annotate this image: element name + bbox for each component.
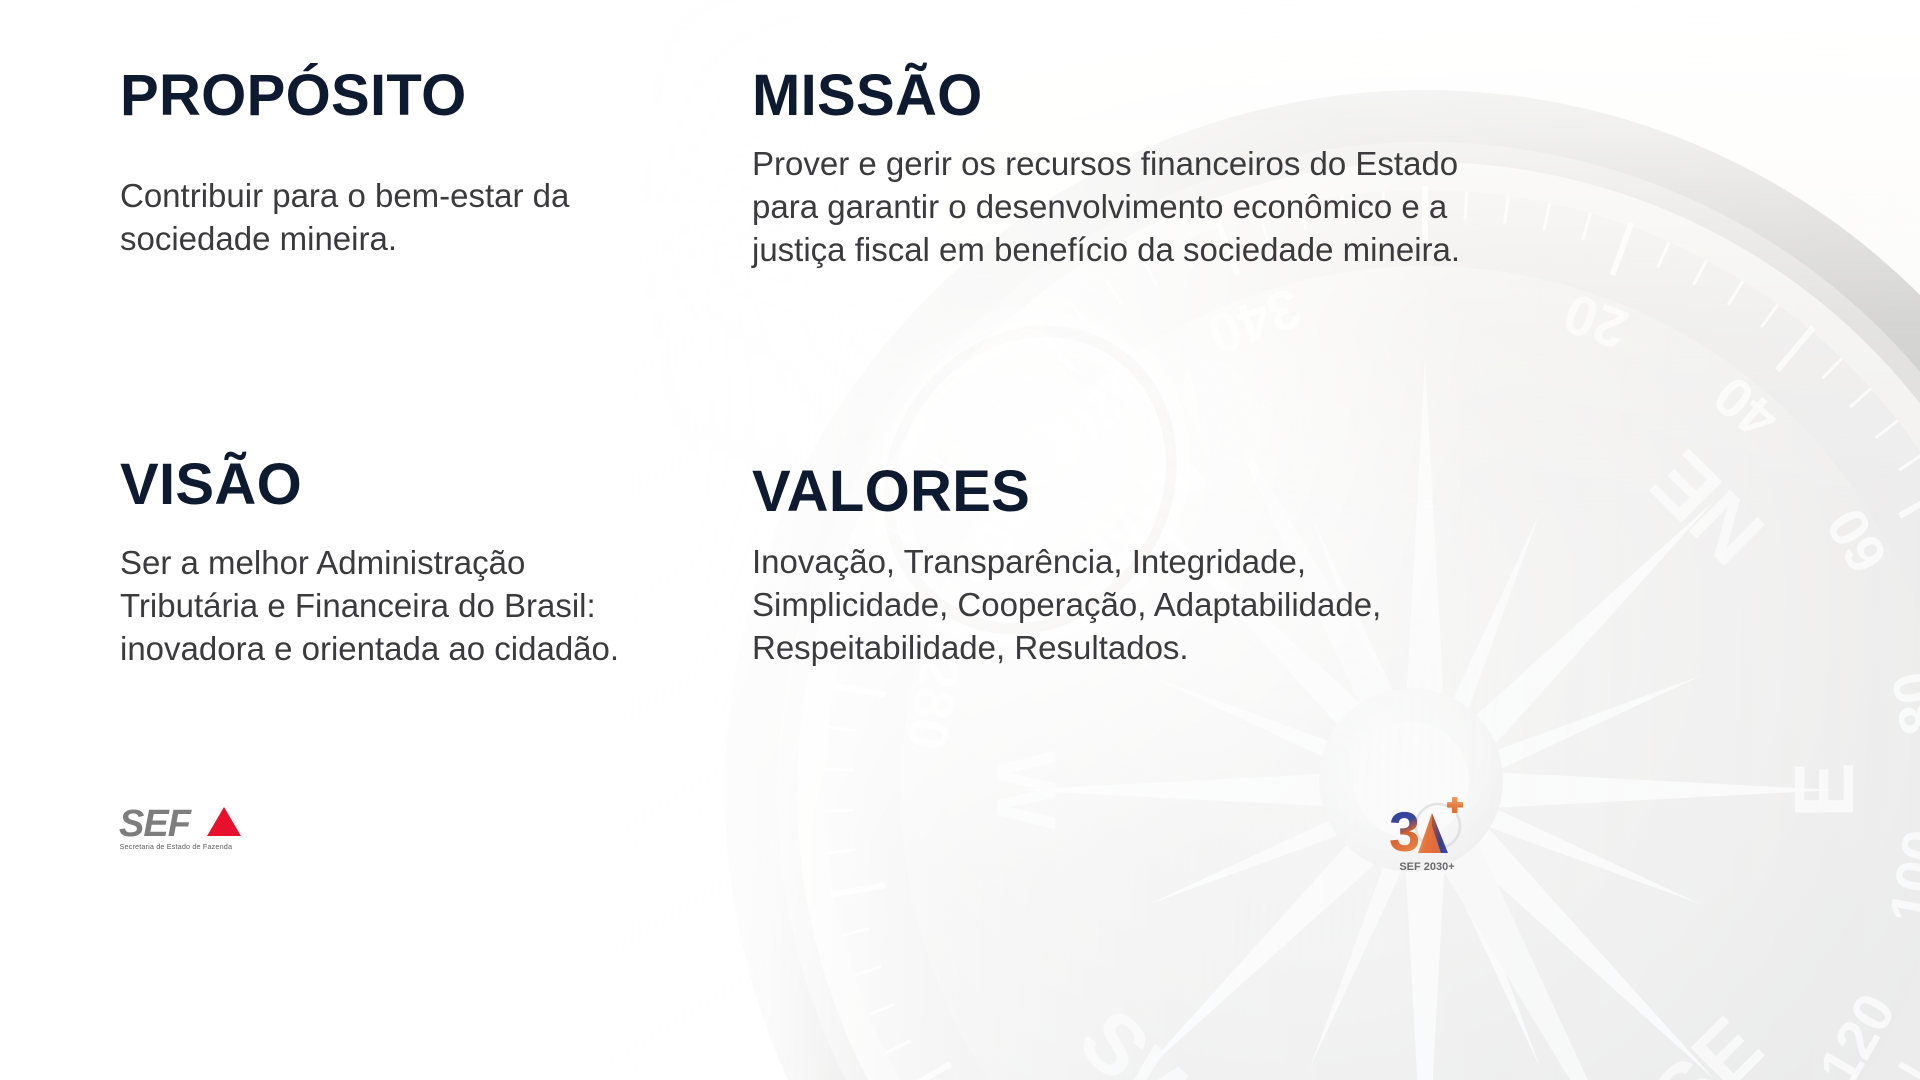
missao-body: Prover e gerir os recursos financeiros d… (752, 143, 1512, 272)
sef-2030-caption: SEF 2030+ (1399, 861, 1454, 873)
valores-body: Inovação, Transparência, Integridade, Si… (752, 541, 1482, 670)
sef-logo-graphic: SEF Secretaria de Estado de Fazenda (118, 800, 248, 854)
sef-2030-plus-v-icon (1452, 797, 1458, 813)
sef-wordmark: SEF (119, 803, 193, 845)
valores-block: VALORES Inovação, Transparência, Integri… (752, 462, 1482, 670)
proposito-block: PROPÓSITO Contribuir para o bem-estar da… (120, 66, 640, 261)
missao-block: MISSÃO Prover e gerir os recursos financ… (752, 66, 1512, 272)
sef-tagline: Secretaria de Estado de Fazenda (120, 842, 233, 851)
valores-heading: VALORES (752, 462, 1482, 521)
sef-triangle-icon (207, 807, 241, 836)
missao-heading: MISSÃO (752, 66, 1512, 125)
visao-block: VISÃO Ser a melhor Administração Tributá… (120, 455, 660, 671)
visao-heading: VISÃO (120, 455, 660, 514)
sef-2030-logo: 3 SEF 2030+ (1386, 795, 1468, 873)
sef-logo: SEF Secretaria de Estado de Fazenda (118, 800, 248, 854)
sef-2030-numeral: 3 (1389, 800, 1420, 863)
visao-body: Ser a melhor Administração Tributária e … (120, 542, 660, 671)
sef-2030-logo-graphic: 3 SEF 2030+ (1386, 795, 1468, 873)
proposito-heading: PROPÓSITO (120, 66, 640, 125)
proposito-body: Contribuir para o bem-estar da sociedade… (120, 175, 640, 261)
